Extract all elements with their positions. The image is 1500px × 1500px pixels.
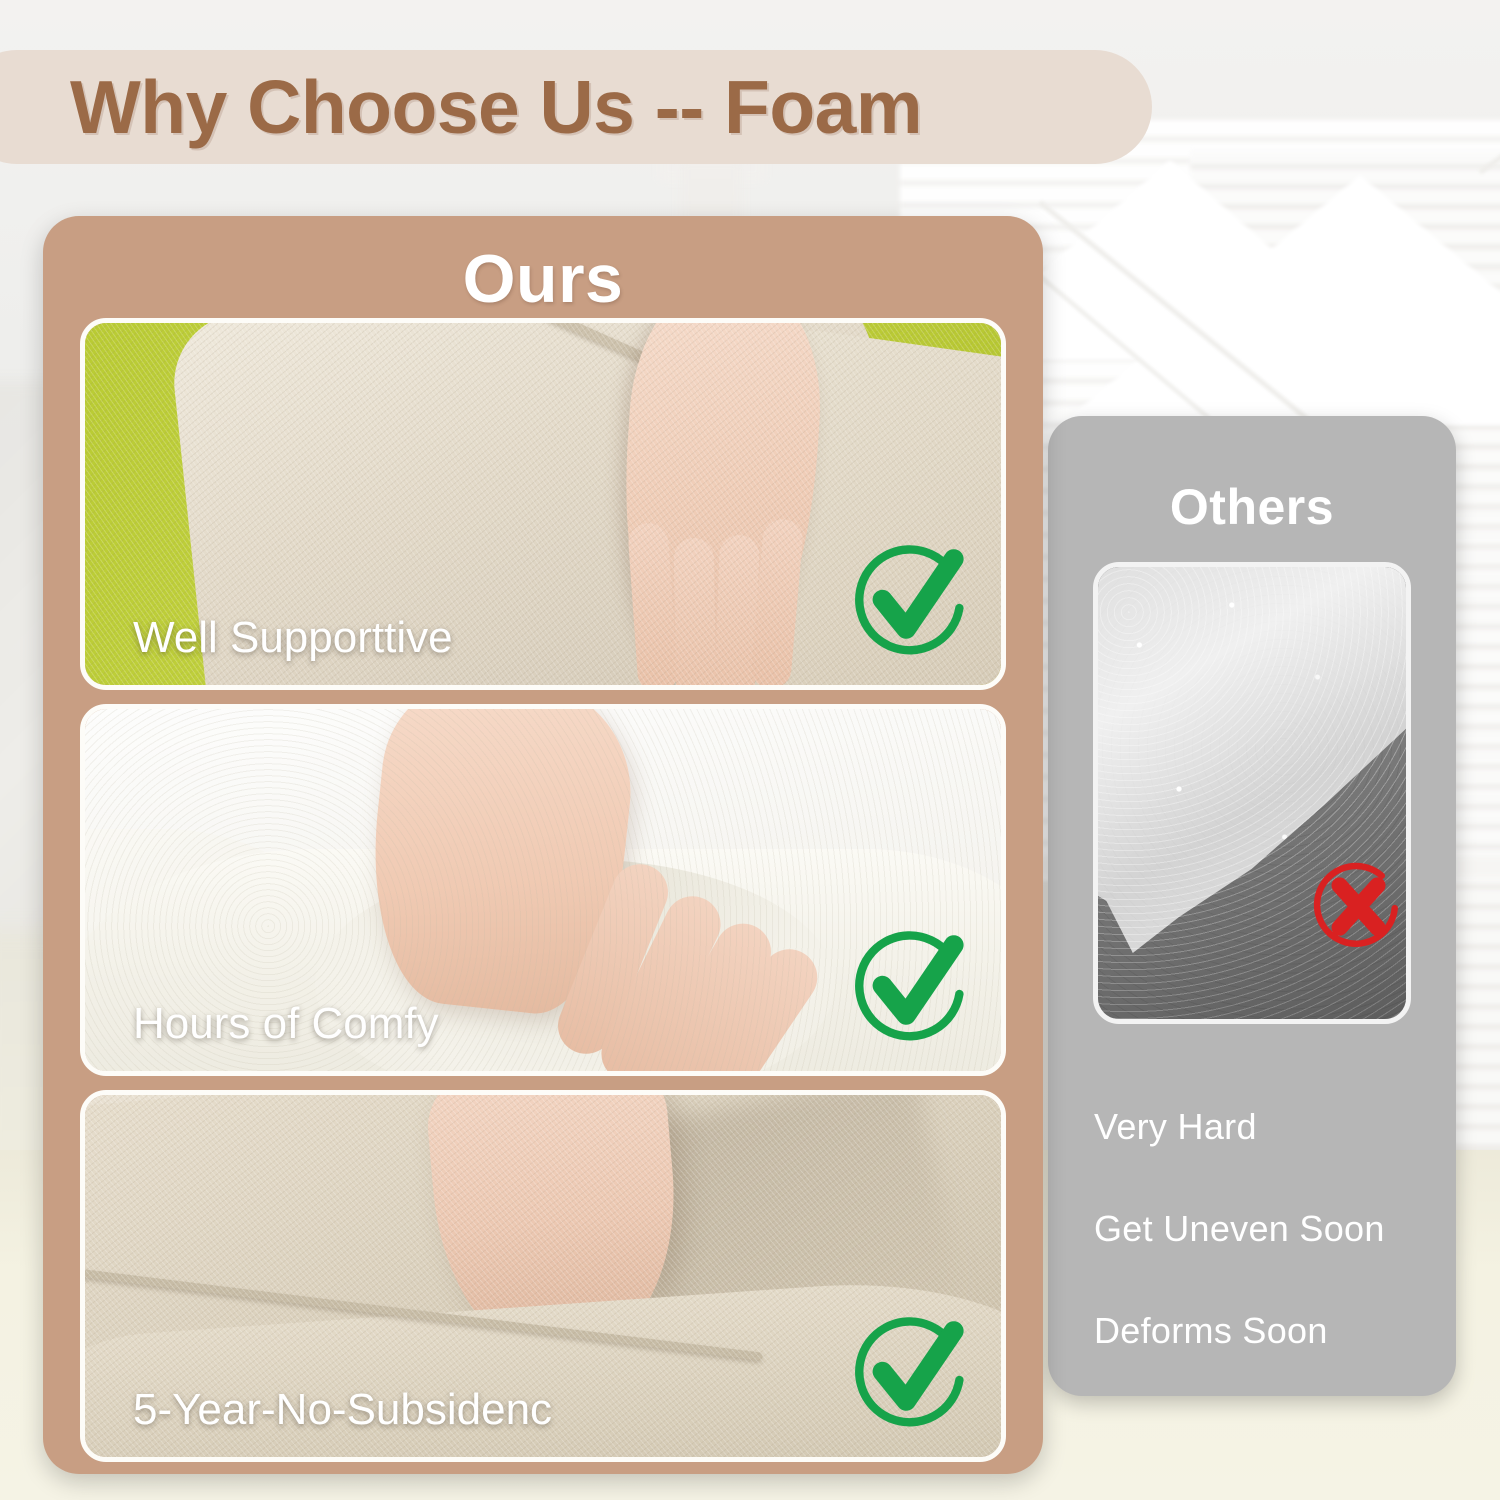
ours-card-well-supportive: Well Supporttive — [80, 318, 1006, 690]
ours-heading: Ours — [43, 216, 1043, 318]
others-heading: Others — [1048, 478, 1456, 536]
list-item: Very Hard — [1094, 1106, 1444, 1148]
ours-card-hours-of-comfy: Hours of Comfy — [80, 704, 1006, 1076]
ours-panel: Ours Well Supporttive — [43, 216, 1043, 1474]
others-panel: Others Very Hard Get Uneven Soon Deforms… — [1048, 416, 1456, 1396]
page-title: Why Choose Us -- Foam — [70, 64, 922, 150]
title-banner: Why Choose Us -- Foam — [0, 50, 1152, 164]
card-caption: Hours of Comfy — [133, 999, 439, 1049]
others-drawback-list: Very Hard Get Uneven Soon Deforms Soon — [1094, 1106, 1444, 1412]
card-caption: Well Supporttive — [133, 613, 453, 663]
check-circle-icon — [839, 531, 979, 671]
list-item: Get Uneven Soon — [1094, 1208, 1444, 1250]
ours-card-no-subsidence: 5-Year-No-Subsidenc — [80, 1090, 1006, 1462]
check-circle-icon — [839, 1303, 979, 1443]
check-circle-icon — [839, 917, 979, 1057]
card-caption: 5-Year-No-Subsidenc — [133, 1385, 552, 1435]
x-circle-icon — [1304, 852, 1412, 960]
list-item: Deforms Soon — [1094, 1310, 1444, 1352]
background-roof-gable-right — [1060, 175, 1500, 425]
